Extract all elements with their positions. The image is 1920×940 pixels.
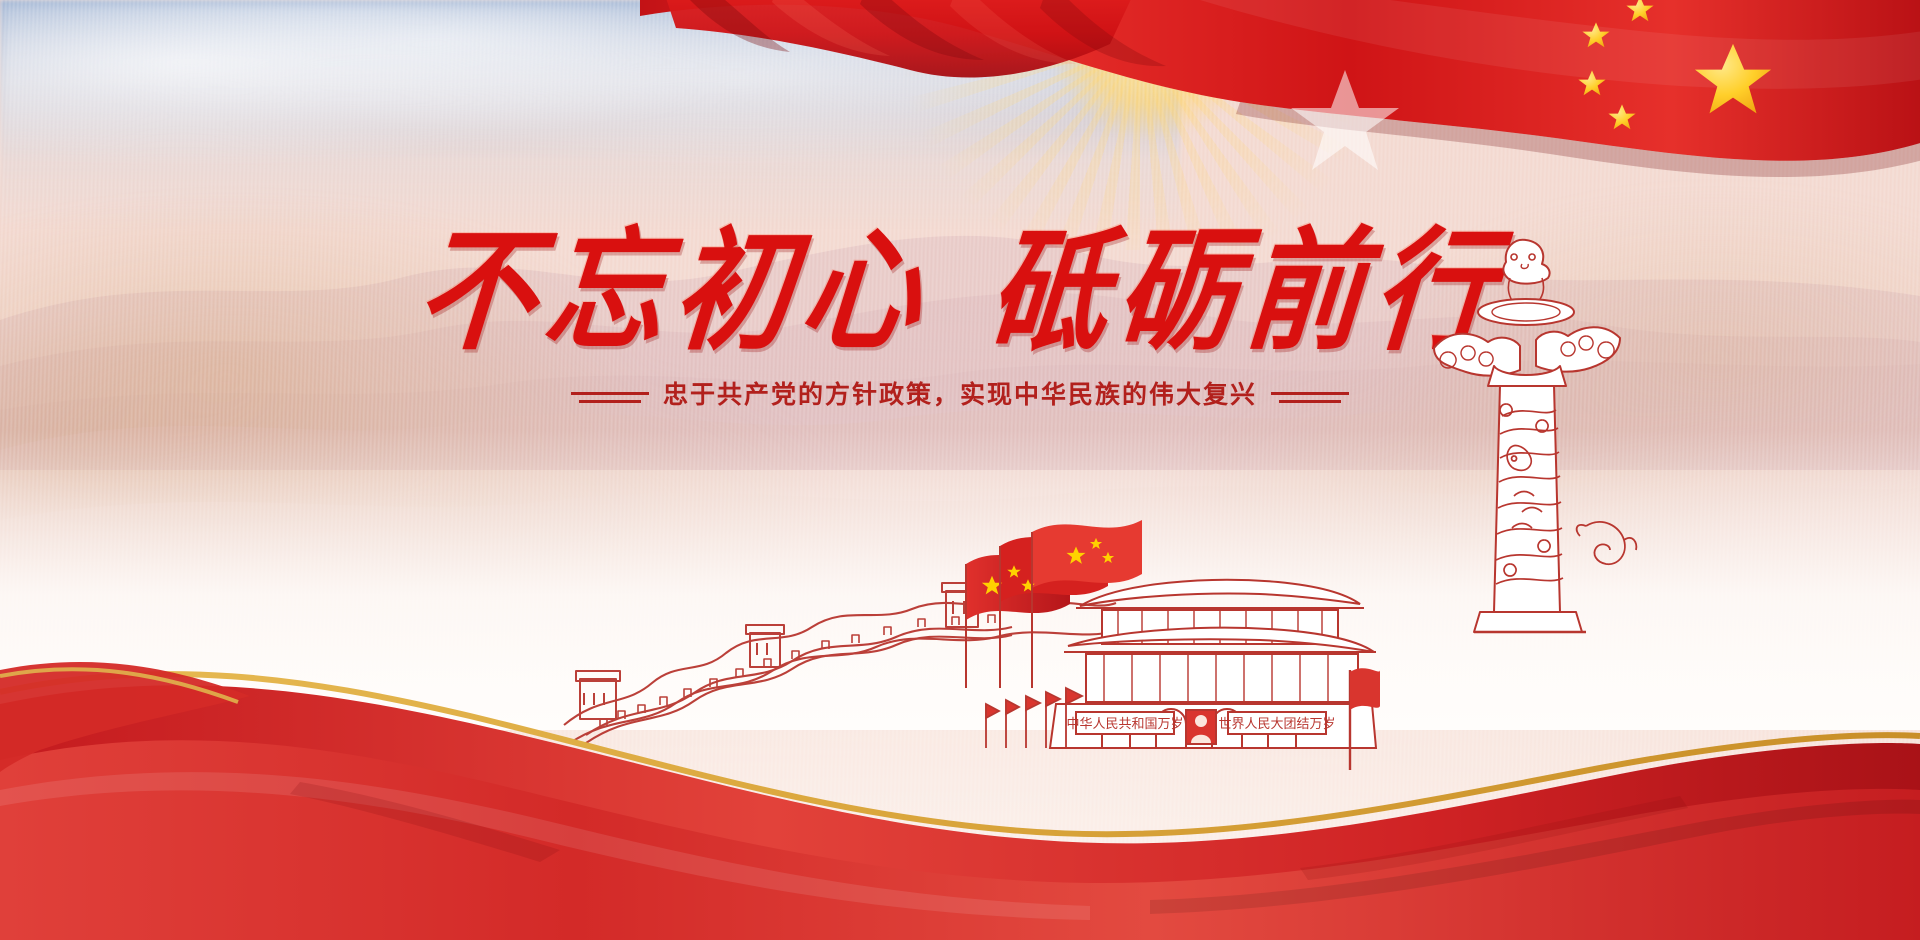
poster-subtitle-row: 忠于共产党的方针政策，实现中华民族的伟大复兴	[0, 375, 1920, 411]
subtitle-rule-left	[571, 392, 649, 395]
flag-white-star-overlay	[1285, 62, 1405, 172]
poster-subtitle: 忠于共产党的方针政策，实现中华民族的伟大复兴	[663, 375, 1257, 411]
subtitle-rule-right	[1271, 392, 1349, 395]
bottom-red-ribbons	[0, 600, 1920, 940]
poster-canvas: 不忘初心 砥砺前行 忠于共产党的方针政策，实现中华民族的伟大复兴	[0, 0, 1920, 940]
flag-banner-top	[640, 0, 1920, 190]
